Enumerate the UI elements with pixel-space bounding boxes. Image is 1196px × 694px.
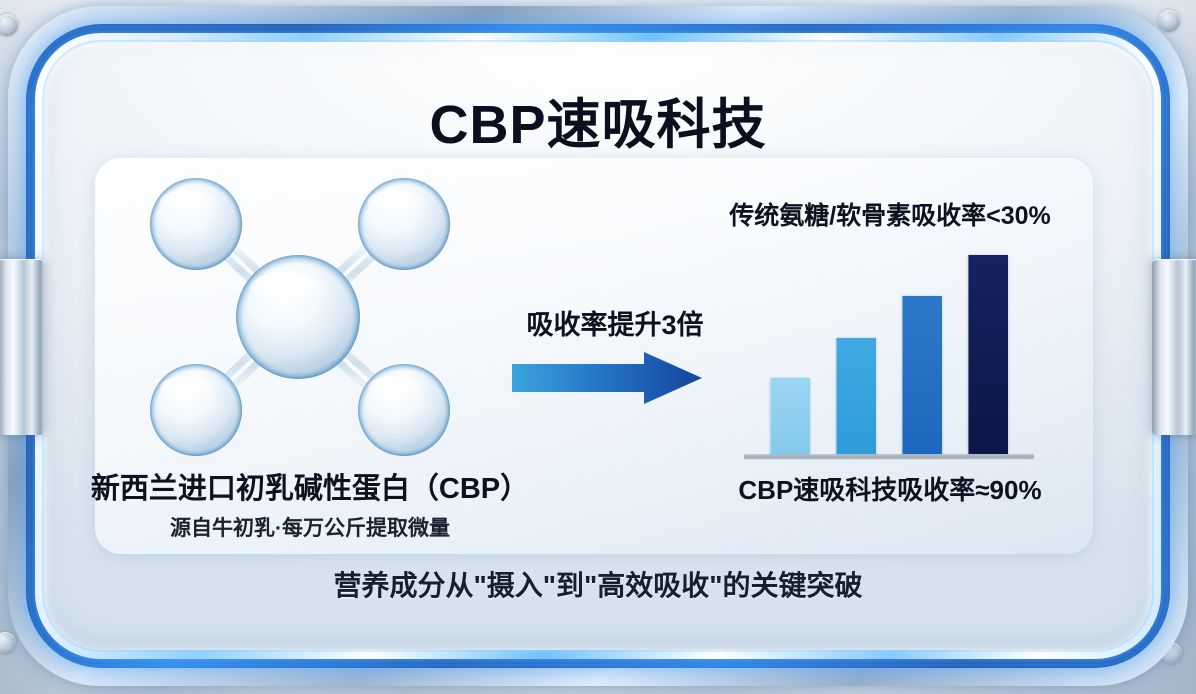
chart-subtitle: CBP速吸科技吸收率≈90% — [690, 470, 1090, 507]
molecule-atom-core — [236, 255, 360, 379]
content-layer: CBP速吸科技 — [0, 0, 1196, 694]
molecule-icon — [128, 172, 468, 462]
page-title: CBP速吸科技 — [0, 80, 1196, 159]
molecule-atom-bottom-right — [358, 364, 450, 456]
chart-title: 传统氨糖/软骨素吸收率<30% — [690, 196, 1090, 232]
chart-baseline — [744, 454, 1034, 460]
molecule-atom-bottom-left — [150, 364, 242, 456]
chart-bar-3 — [902, 296, 942, 454]
chart-bar-4 — [968, 255, 1008, 454]
right-arrow-icon — [512, 352, 702, 404]
chart-bar-1 — [770, 378, 810, 454]
molecule-atom-top-right — [358, 178, 450, 270]
footer-caption: 营养成分从"摄入"到"高效吸收"的关键突破 — [0, 564, 1196, 604]
chart-bar-2 — [836, 338, 876, 454]
arrow-label: 吸收率提升3倍 — [505, 303, 725, 342]
molecule-svg — [128, 172, 468, 462]
bar-chart — [744, 240, 1034, 460]
infographic-stage: CBP速吸科技 — [0, 0, 1196, 694]
molecule-subcaption: 源自牛初乳·每万公斤提取微量 — [50, 512, 570, 542]
molecule-atom-top-left — [150, 178, 242, 270]
molecule-caption: 新西兰进口初乳碱性蛋白（CBP） — [50, 465, 570, 507]
